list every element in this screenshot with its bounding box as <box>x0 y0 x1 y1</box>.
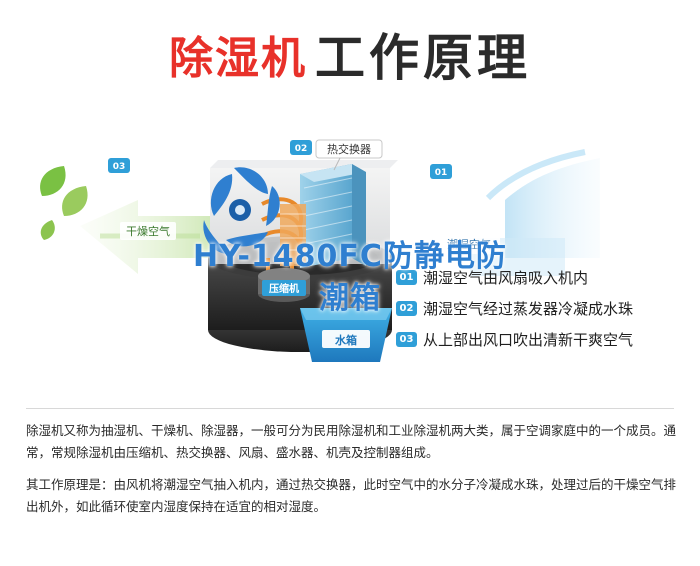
step-number: 03 <box>396 332 417 347</box>
description-paragraph-2: 其工作原理是：由风机将潮湿空气抽入机内，通过热交换器，此时空气中的水分子冷凝成水… <box>26 474 678 518</box>
humid-air-label: 潮湿空气 <box>438 234 500 254</box>
water-tank: 水箱 <box>300 308 392 362</box>
compressor-label-text: 压缩机 <box>269 282 299 295</box>
description-text: 除湿机又称为抽湿机、干燥机、除湿器，一般可分为民用除湿机和工业除湿机两大类，属于… <box>26 420 678 518</box>
step-item: 02 潮湿空气经过蒸发器冷凝成水珠 <box>396 293 696 324</box>
diagram-svg: 压缩机 水箱 干燥空气 热交换器 <box>0 108 700 408</box>
badge-01-text: 01 <box>435 168 448 178</box>
heat-exchanger-block <box>300 164 366 268</box>
step-number: 02 <box>396 301 417 316</box>
step-text: 潮湿空气经过蒸发器冷凝成水珠 <box>423 298 633 319</box>
title-red-text: 除湿机 <box>169 33 307 84</box>
step-text: 从上部出风口吹出清新干爽空气 <box>423 329 633 350</box>
leaf-icon <box>40 166 88 240</box>
step-text: 潮湿空气由风扇吸入机内 <box>423 267 588 288</box>
page-title: 除湿机工作原理 <box>0 18 700 90</box>
badge-02: 02 <box>290 140 312 155</box>
humid-air-stream <box>470 152 600 276</box>
humid-air-label-text: 潮湿空气 <box>447 237 491 251</box>
page-root: 除湿机工作原理 <box>0 0 700 566</box>
step-item: 03 从上部出风口吹出清新干爽空气 <box>396 324 696 355</box>
step-item: 01 潮湿空气由风扇吸入机内 <box>396 262 696 293</box>
badge-02-text: 02 <box>295 144 308 154</box>
badge-03-text: 03 <box>113 162 126 172</box>
heat-exchanger-label-text: 热交换器 <box>327 142 371 156</box>
water-tank-label-text: 水箱 <box>335 333 357 347</box>
badge-01: 01 <box>430 164 452 179</box>
dehumidifier-diagram: 压缩机 水箱 干燥空气 热交换器 <box>0 108 700 408</box>
step-list: 01 潮湿空气由风扇吸入机内 02 潮湿空气经过蒸发器冷凝成水珠 03 从上部出… <box>396 262 696 355</box>
coil-fins <box>280 204 306 266</box>
badge-03: 03 <box>108 158 130 173</box>
step-number: 01 <box>396 270 417 285</box>
compressor-label: 压缩机 <box>262 280 306 296</box>
dry-air-label: 干燥空气 <box>120 222 176 240</box>
description-paragraph-1: 除湿机又称为抽湿机、干燥机、除湿器，一般可分为民用除湿机和工业除湿机两大类，属于… <box>26 420 678 464</box>
section-divider <box>26 408 674 409</box>
dry-air-label-text: 干燥空气 <box>126 224 170 238</box>
title-dark-text: 工作原理 <box>315 29 531 87</box>
